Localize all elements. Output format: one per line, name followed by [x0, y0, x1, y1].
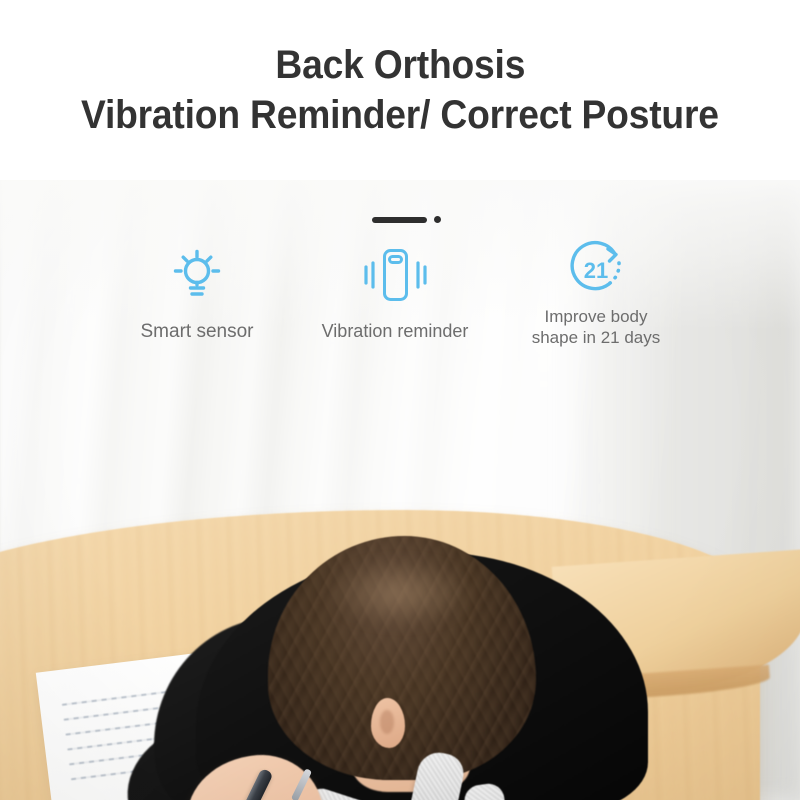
divider-dot: [434, 216, 441, 223]
cycle-21-days-icon: 21: [498, 238, 694, 300]
header-banner: Back Orthosis Vibration Reminder/ Correc…: [0, 0, 800, 180]
dash-dot-divider: [372, 216, 441, 223]
vibrating-device-icon: [290, 244, 500, 306]
feature-row: Smart sensor Vibration reminder: [0, 238, 800, 373]
feature-label: Improve body shape in 21 days: [498, 306, 694, 348]
feature-21-days: 21 Improve body shape in 21 days: [498, 238, 694, 348]
feature-smart-sensor: Smart sensor: [102, 244, 292, 343]
hair-highlight: [326, 558, 476, 628]
divider-bar: [372, 217, 427, 223]
page-title-line-1: Back Orthosis: [275, 41, 525, 90]
svg-text:21: 21: [584, 258, 608, 283]
feature-label: Smart sensor: [102, 320, 292, 343]
feature-vibration-reminder: Vibration reminder: [290, 244, 500, 343]
child-ear: [371, 698, 405, 748]
page-title-line-2: Vibration Reminder/ Correct Posture: [81, 90, 719, 140]
product-banner: Back Orthosis Vibration Reminder/ Correc…: [0, 0, 800, 800]
feature-label: Vibration reminder: [290, 320, 500, 343]
lightbulb-icon: [102, 244, 292, 306]
